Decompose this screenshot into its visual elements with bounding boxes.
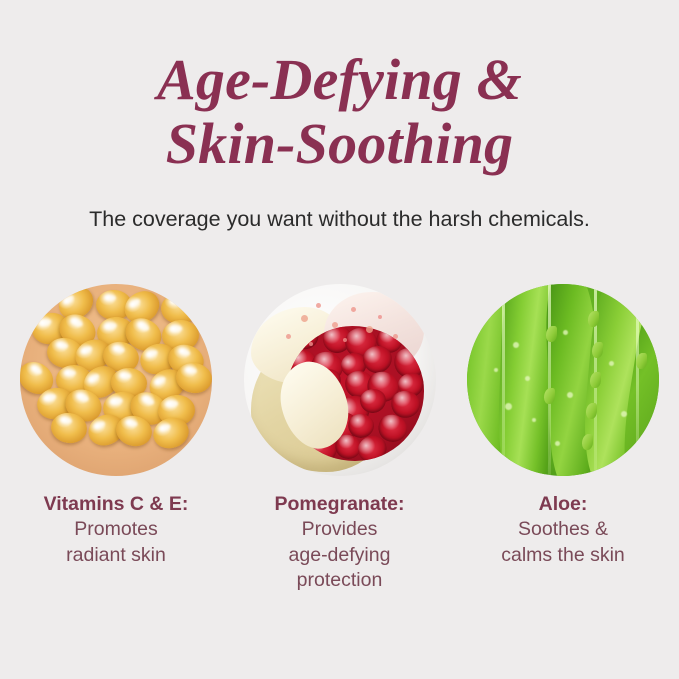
aloe-thorn — [546, 326, 557, 342]
headline-line-2: Skin-Soothing — [0, 112, 679, 176]
aloe-thorn — [582, 434, 593, 450]
pomegranate-speck — [378, 315, 382, 319]
caption-pomegranate: Pomegranate: Provides age-defying protec… — [234, 492, 446, 594]
aloe-leaf-edge — [548, 284, 551, 476]
caption-desc-line-3: protection — [234, 568, 446, 594]
headline-line-1: Age-Defying & — [0, 48, 679, 112]
aloe-thorn — [588, 311, 599, 327]
pomegranate-speck — [309, 342, 313, 346]
aloe-speck — [525, 376, 530, 381]
aloe-thorn — [592, 342, 603, 358]
ingredient-card-pomegranate: Pomegranate: Provides age-defying protec… — [242, 284, 438, 594]
caption-desc-line-2: age-defying — [234, 543, 446, 569]
aloe-thorn — [586, 403, 597, 419]
caption-desc-line-1: Provides — [234, 517, 446, 543]
page-subtitle: The coverage you want without the harsh … — [0, 206, 679, 232]
vitamin-capsules-photo — [20, 284, 212, 476]
aloe-thorn — [544, 388, 555, 404]
caption-desc-line-2: calms the skin — [457, 543, 669, 569]
caption-desc-line-1: Promotes — [10, 517, 222, 543]
caption-aloe: Aloe: Soothes & calms the skin — [457, 492, 669, 568]
aloe-speck — [621, 411, 627, 417]
aloe-thorn — [636, 353, 647, 369]
pomegranate-speck — [286, 334, 291, 339]
caption-label: Pomegranate: — [234, 492, 446, 517]
aloe-speck — [513, 342, 519, 348]
ingredient-card-vitamins: Vitamins C & E: Promotes radiant skin — [18, 284, 214, 594]
aloe-leaf-edge — [636, 284, 639, 476]
aloe-leaves-photo — [467, 284, 659, 476]
pomegranate-photo — [244, 284, 436, 476]
aloe-speck — [567, 392, 573, 398]
caption-label: Vitamins C & E: — [10, 492, 222, 517]
caption-label: Aloe: — [457, 492, 669, 517]
caption-desc-line-1: Soothes & — [457, 517, 669, 543]
page-headline: Age-Defying & Skin-Soothing — [0, 48, 679, 176]
aloe-speck — [609, 361, 614, 366]
caption-vitamins: Vitamins C & E: Promotes radiant skin — [10, 492, 222, 568]
ingredient-cards-row: Vitamins C & E: Promotes radiant skin Po… — [0, 284, 679, 594]
ingredient-card-aloe: Aloe: Soothes & calms the skin — [465, 284, 661, 594]
caption-desc-line-2: radiant skin — [10, 543, 222, 569]
aloe-leaf-edge — [502, 284, 505, 476]
pomegranate-speck — [301, 315, 308, 322]
